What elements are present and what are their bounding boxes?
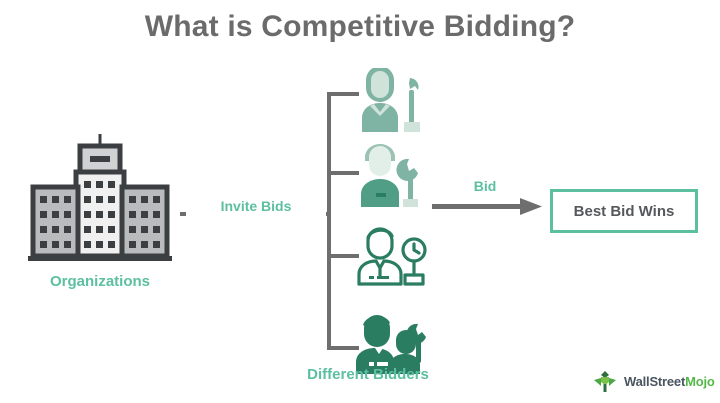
brand-name-accent: Mojo xyxy=(685,374,715,389)
page-title: What is Competitive Bidding? xyxy=(0,10,720,44)
wallstreetmojo-wordmark: WallStreetMojo xyxy=(624,374,715,389)
infographic-canvas: What is Competitive Bidding? xyxy=(0,0,720,403)
best-bid-wins-box: Best Bid Wins xyxy=(550,189,698,233)
best-bid-wins-label: Best Bid Wins xyxy=(574,203,675,220)
wallstreetmojo-logo-icon xyxy=(592,368,618,394)
male-worker-with-wrench-icon xyxy=(352,143,430,209)
brand-name-primary: WallStreet xyxy=(624,374,685,389)
different-bidders-label: Different Bidders xyxy=(268,366,468,383)
businessman-with-clock-icon xyxy=(352,222,430,288)
office-building-icon xyxy=(20,130,180,270)
right-arrow-icon xyxy=(432,196,544,218)
invite-bids-label: Invite Bids xyxy=(186,198,326,218)
bid-label: Bid xyxy=(430,178,540,194)
organizations-group: Organizations xyxy=(20,130,180,300)
female-worker-with-wrench-icon xyxy=(352,68,430,134)
organizations-label: Organizations xyxy=(20,273,180,290)
bidders-bracket-spine xyxy=(327,92,331,350)
wallstreetmojo-brand: WallStreetMojo xyxy=(592,368,715,394)
